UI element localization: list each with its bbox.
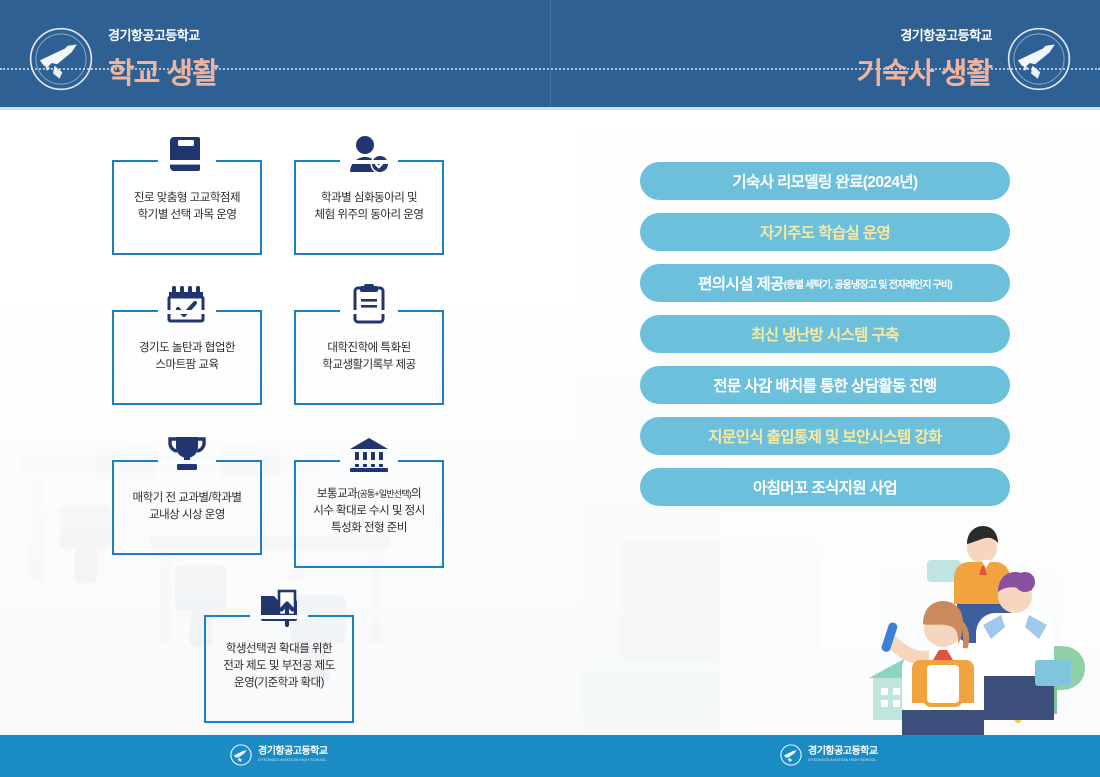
footer-school-name-en: GYEONGGI AVIATION HIGH SCHOOL xyxy=(808,759,878,763)
school-life-card-text: 보통교과(공통+일반선택)의 시수 확대로 수시 및 정시 특성화 전형 준비 xyxy=(294,486,444,537)
header-center-divider xyxy=(550,0,551,110)
dorm-life-pill[interactable]: 편의시설 제공(층별 세탁기, 공용냉장고 및 전자레인지 구비) xyxy=(640,264,1010,302)
school-life-card: 학과별 심화동아리 및 체험 위주의 동아리 운영 xyxy=(294,160,444,255)
school-life-card: 보통교과(공통+일반선택)의 시수 확대로 수시 및 정시 특성화 전형 준비 xyxy=(294,460,444,568)
header-right-text: 경기항공고등학교 기숙사 생활 xyxy=(857,27,992,91)
school-life-card: 경기도 놀탄과 협업한 스마트팜 교육 xyxy=(112,310,262,405)
school-life-card: 대학진학에 특화된 학교생활기록부 제공 xyxy=(294,310,444,405)
school-life-card: 학생선택권 확대를 위한 전과 제도 및 부전공 제도 운영(기준학과 확대) xyxy=(204,615,354,723)
header-left-text: 경기항공고등학교 학교 생활 xyxy=(108,27,218,91)
school-life-card-text: 진로 맞춤형 고교학점제 학기별 선택 과목 운영 xyxy=(112,190,262,224)
school-emblem-airplane-icon xyxy=(230,744,252,766)
school-life-card-text: 학과별 심화동아리 및 체험 위주의 동아리 운영 xyxy=(294,190,444,224)
footer-school-name-en: GYEONGGI AVIATION HIGH SCHOOL xyxy=(258,759,328,763)
content-area: 진로 맞춤형 고교학점제 학기별 선택 과목 운영 xyxy=(0,110,1100,735)
header-right-title: 기숙사 생활 xyxy=(857,57,992,91)
school-life-card: 매학기 전 교과별/학과별 교내상 시상 운영 xyxy=(112,460,262,555)
header-right-school-name: 경기항공고등학교 xyxy=(900,27,992,57)
header-left-block: 경기항공고등학교 학교 생활 xyxy=(28,26,218,92)
footer-logo-text: 경기항공고등학교 GYEONGGI AVIATION HIGH SCHOOL xyxy=(808,747,878,763)
header-left-title: 학교 생활 xyxy=(108,57,218,91)
dorm-life-pill[interactable]: 최신 냉난방 시스템 구축 xyxy=(640,315,1010,353)
school-life-card-text: 대학진학에 특화된 학교생활기록부 제공 xyxy=(294,340,444,374)
dorm-life-pill[interactable]: 자기주도 학습실 운영 xyxy=(640,213,1010,251)
school-emblem-airplane-icon xyxy=(28,26,94,92)
infographic-page: 경기항공고등학교 학교 생활 경기항공고등학교 기숙사 생활 xyxy=(0,0,1100,777)
footer-logo-right: 경기항공고등학교 GYEONGGI AVIATION HIGH SCHOOL xyxy=(780,744,878,766)
dorm-life-pill[interactable]: 전문 사감 배치를 통한 상담활동 진행 xyxy=(640,366,1010,404)
dorm-life-pill[interactable]: 지문인식 출입통제 및 보안시스템 강화 xyxy=(640,417,1010,455)
header-right-block: 경기항공고등학교 기숙사 생활 xyxy=(857,26,1072,92)
school-life-card-text: 경기도 놀탄과 협업한 스마트팜 교육 xyxy=(112,340,262,374)
footer-school-name-ko: 경기항공고등학교 xyxy=(808,747,878,757)
footer-logo-left: 경기항공고등학교 GYEONGGI AVIATION HIGH SCHOOL xyxy=(230,744,328,766)
school-emblem-airplane-icon xyxy=(780,744,802,766)
school-life-card-text: 학생선택권 확대를 위한 전과 제도 및 부전공 제도 운영(기준학과 확대) xyxy=(204,641,354,692)
school-life-card-text: 매학기 전 교과별/학과별 교내상 시상 운영 xyxy=(112,490,262,524)
header-left-school-name: 경기항공고등학교 xyxy=(108,27,200,57)
dorm-life-pill[interactable]: 기숙사 리모델링 완료(2024년) xyxy=(640,162,1010,200)
dorm-life-pill-list: 기숙사 리모델링 완료(2024년) 자기주도 학습실 운영 편의시설 제공(층… xyxy=(640,162,1010,506)
page-footer: 경기항공고등학교 GYEONGGI AVIATION HIGH SCHOOL 경… xyxy=(0,735,1100,777)
dorm-life-pill[interactable]: 아침머꼬 조식지원 사업 xyxy=(640,468,1010,506)
school-emblem-airplane-icon xyxy=(1006,26,1072,92)
school-life-card: 진로 맞춤형 고교학점제 학기별 선택 과목 운영 xyxy=(112,160,262,255)
footer-school-name-ko: 경기항공고등학교 xyxy=(258,747,328,757)
page-header: 경기항공고등학교 학교 생활 경기항공고등학교 기숙사 생활 xyxy=(0,0,1100,110)
footer-logo-text: 경기항공고등학교 GYEONGGI AVIATION HIGH SCHOOL xyxy=(258,747,328,763)
